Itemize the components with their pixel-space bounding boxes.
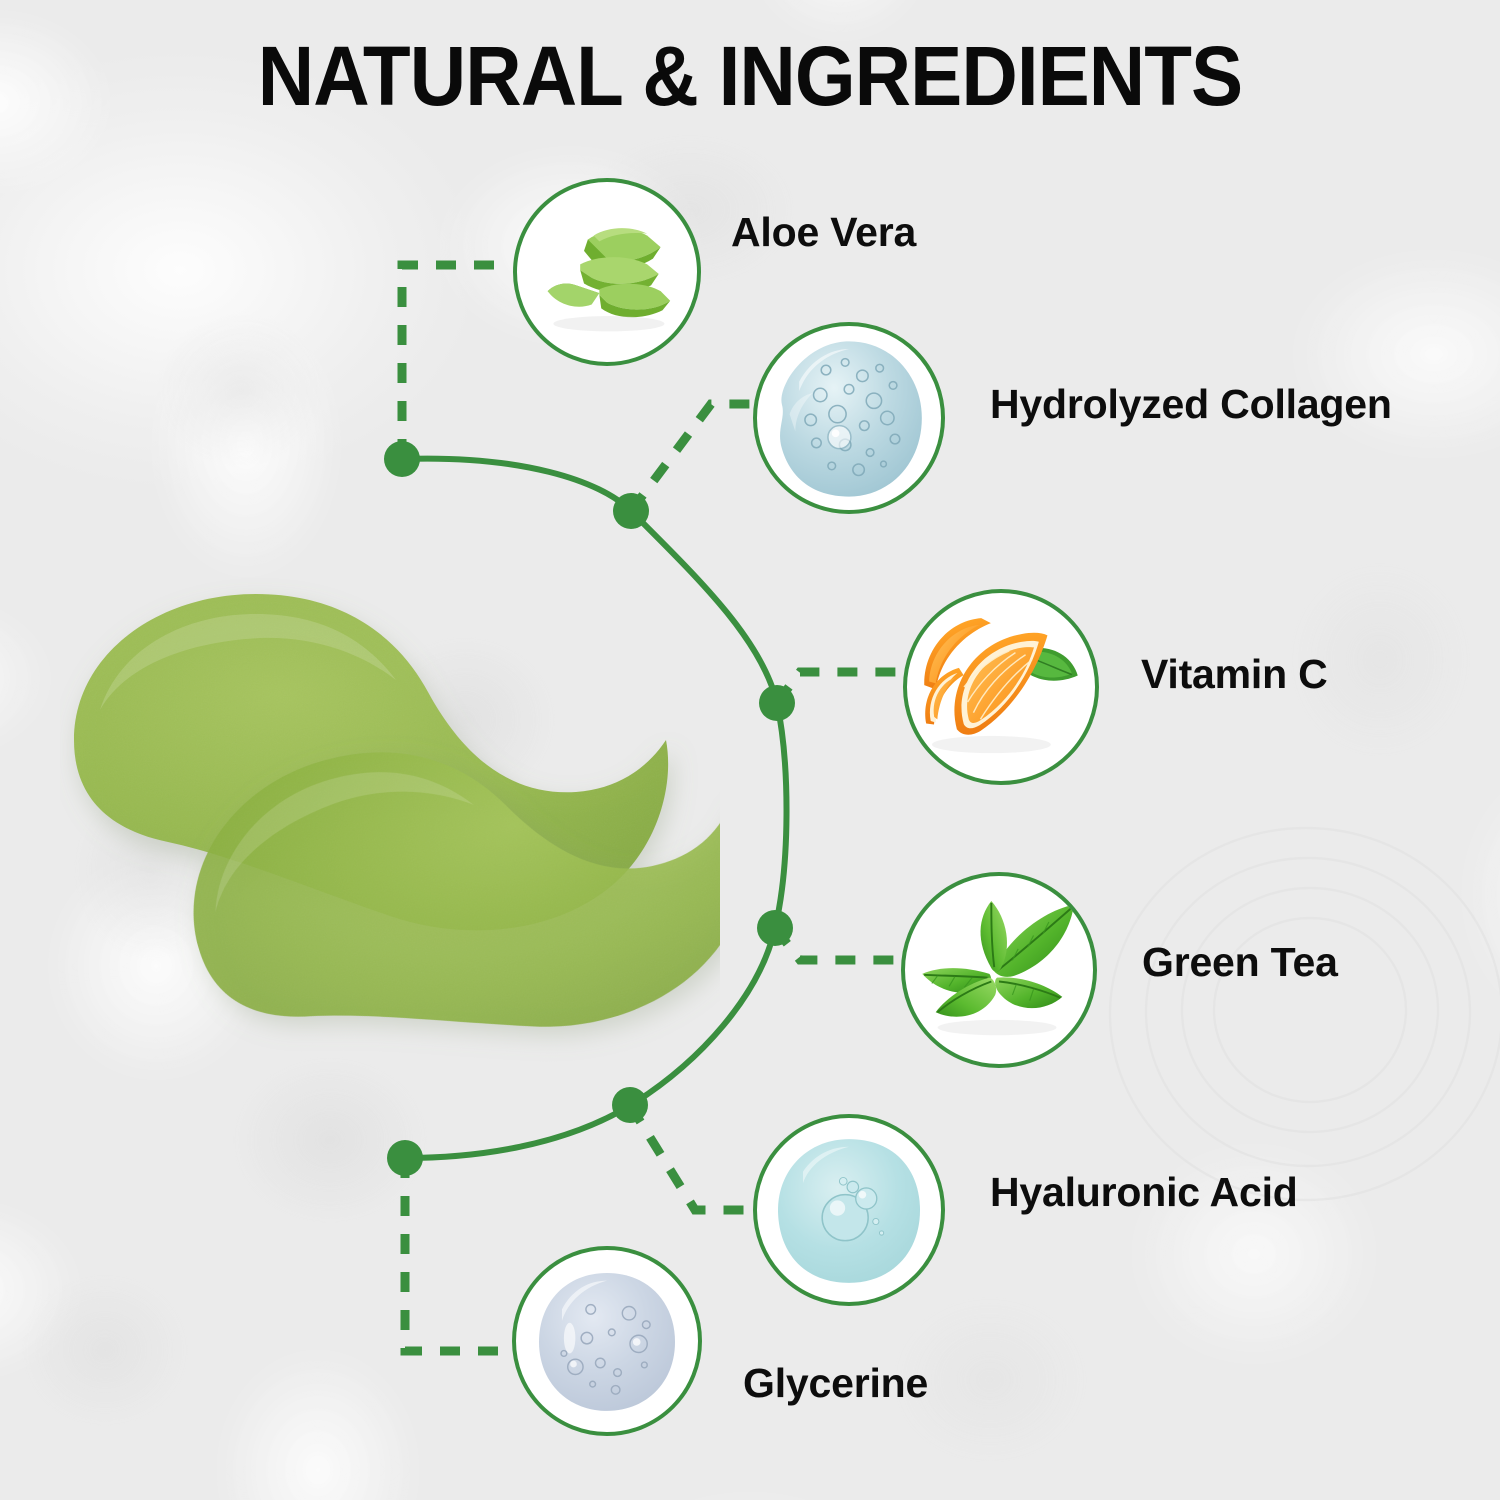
aloe-vera-slices-icon	[517, 182, 697, 362]
branch-vitamin-c	[777, 672, 902, 703]
ingredient-label-hydrolyzed-collagen: Hydrolyzed Collagen	[990, 384, 1392, 425]
collagen-droplet-icon	[757, 326, 941, 510]
ingredient-label-glycerine: Glycerine	[743, 1363, 928, 1404]
glycerine-droplet-icon	[516, 1250, 698, 1432]
branch-aloe-vera	[402, 265, 508, 459]
ingredient-circle-glycerine[interactable]	[512, 1246, 702, 1436]
ingredient-label-hyaluronic-acid: Hyaluronic Acid	[990, 1172, 1298, 1213]
branch-green-tea	[775, 928, 900, 960]
ingredient-label-aloe-vera: Aloe Vera	[731, 212, 916, 253]
infographic-canvas: NATURAL & INGREDIENTS	[0, 0, 1500, 1500]
orange-slices-icon	[907, 593, 1095, 781]
branch-hydrolyzed-collagen	[631, 404, 752, 511]
eye-patch-product-image	[60, 560, 720, 1100]
branch-hyaluronic-acid	[630, 1105, 752, 1210]
ingredient-circle-vitamin-c[interactable]	[903, 589, 1099, 785]
hyaluronic-gel-blob-icon	[757, 1118, 941, 1302]
node-dot-glycerine	[387, 1140, 423, 1176]
node-dot-aloe-vera	[384, 441, 420, 477]
ingredient-circle-aloe-vera[interactable]	[513, 178, 701, 366]
ingredient-label-vitamin-c: Vitamin C	[1141, 654, 1328, 695]
node-dot-hydrolyzed-collagen	[613, 493, 649, 529]
ingredient-circle-hyaluronic-acid[interactable]	[753, 1114, 945, 1306]
node-dot-green-tea	[757, 910, 793, 946]
ingredient-circle-hydrolyzed-collagen[interactable]	[753, 322, 945, 514]
node-dot-vitamin-c	[759, 685, 795, 721]
ingredient-label-green-tea: Green Tea	[1142, 942, 1338, 983]
tea-leaves-icon	[905, 876, 1093, 1064]
branch-glycerine	[405, 1158, 509, 1351]
ingredient-circle-green-tea[interactable]	[901, 872, 1097, 1068]
